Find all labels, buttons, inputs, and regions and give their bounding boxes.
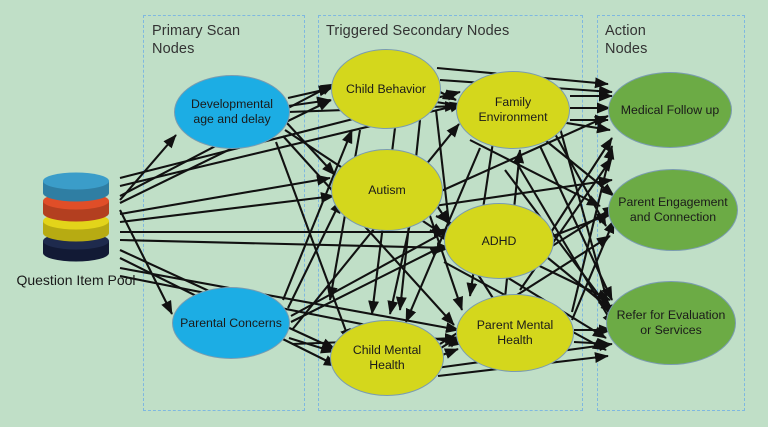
node-child-mental-health[interactable]: Child Mental Health [330,320,444,396]
node-label: Autism [368,183,406,198]
node-label: Refer for Evaluation or Services [613,308,729,338]
node-label: Developmental age and delay [181,97,283,127]
node-label: Medical Follow up [621,103,719,118]
node-label: Parental Concerns [180,316,282,331]
node-parent-mental-health[interactable]: Parent Mental Health [456,294,574,372]
node-label: Parent Engagement and Connection [615,195,731,225]
node-label: Family Environment [463,95,563,125]
node-autism[interactable]: Autism [331,149,443,231]
node-label: Child Mental Health [337,343,437,373]
node-parental-concerns[interactable]: Parental Concerns [172,287,290,359]
node-medical-follow-up[interactable]: Medical Follow up [608,72,732,148]
node-parent-engagement-and-connection[interactable]: Parent Engagement and Connection [608,169,738,251]
node-label: ADHD [482,234,517,249]
node-label: Parent Mental Health [463,318,567,348]
diagram-canvas: Primary Scan Nodes Triggered Secondary N… [0,0,768,427]
node-adhd[interactable]: ADHD [444,203,554,279]
question-item-pool-label: Question Item Pool [10,272,142,289]
node-child-behavior[interactable]: Child Behavior [331,49,441,129]
node-refer-for-evaluation-or-services[interactable]: Refer for Evaluation or Services [606,281,736,365]
node-developmental-age-and-delay[interactable]: Developmental age and delay [174,75,290,149]
node-label: Child Behavior [346,82,426,97]
database-stack-icon [36,172,116,264]
node-family-environment[interactable]: Family Environment [456,71,570,149]
